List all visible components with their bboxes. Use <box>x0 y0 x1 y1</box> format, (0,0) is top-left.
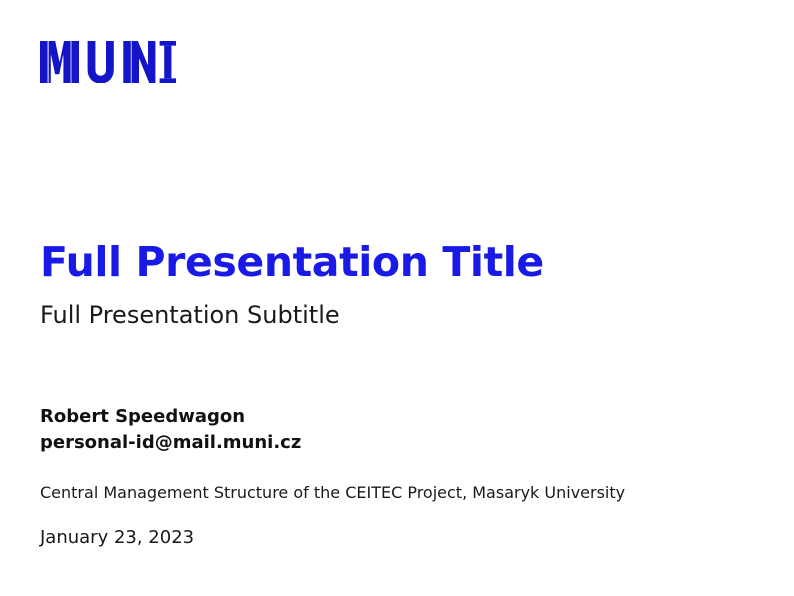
author-name: Robert Speedwagon <box>40 404 760 430</box>
page-subtitle: Full Presentation Subtitle <box>40 301 740 330</box>
author-email: personal-id@mail.muni.cz <box>40 430 760 456</box>
presentation-date: January 23, 2023 <box>40 526 760 549</box>
affiliation-line: Central Management Structure of the CEIT… <box>40 483 760 504</box>
presentation-title-slide: Full Presentation Title Full Presentatio… <box>0 0 794 596</box>
muni-logo <box>40 41 176 83</box>
muni-logo-wordmark-icon <box>40 41 176 83</box>
page-title: Full Presentation Title <box>40 240 740 284</box>
title-block: Full Presentation Title Full Presentatio… <box>40 240 740 330</box>
presenter-meta-block: Robert Speedwagon personal-id@mail.muni.… <box>40 404 760 549</box>
